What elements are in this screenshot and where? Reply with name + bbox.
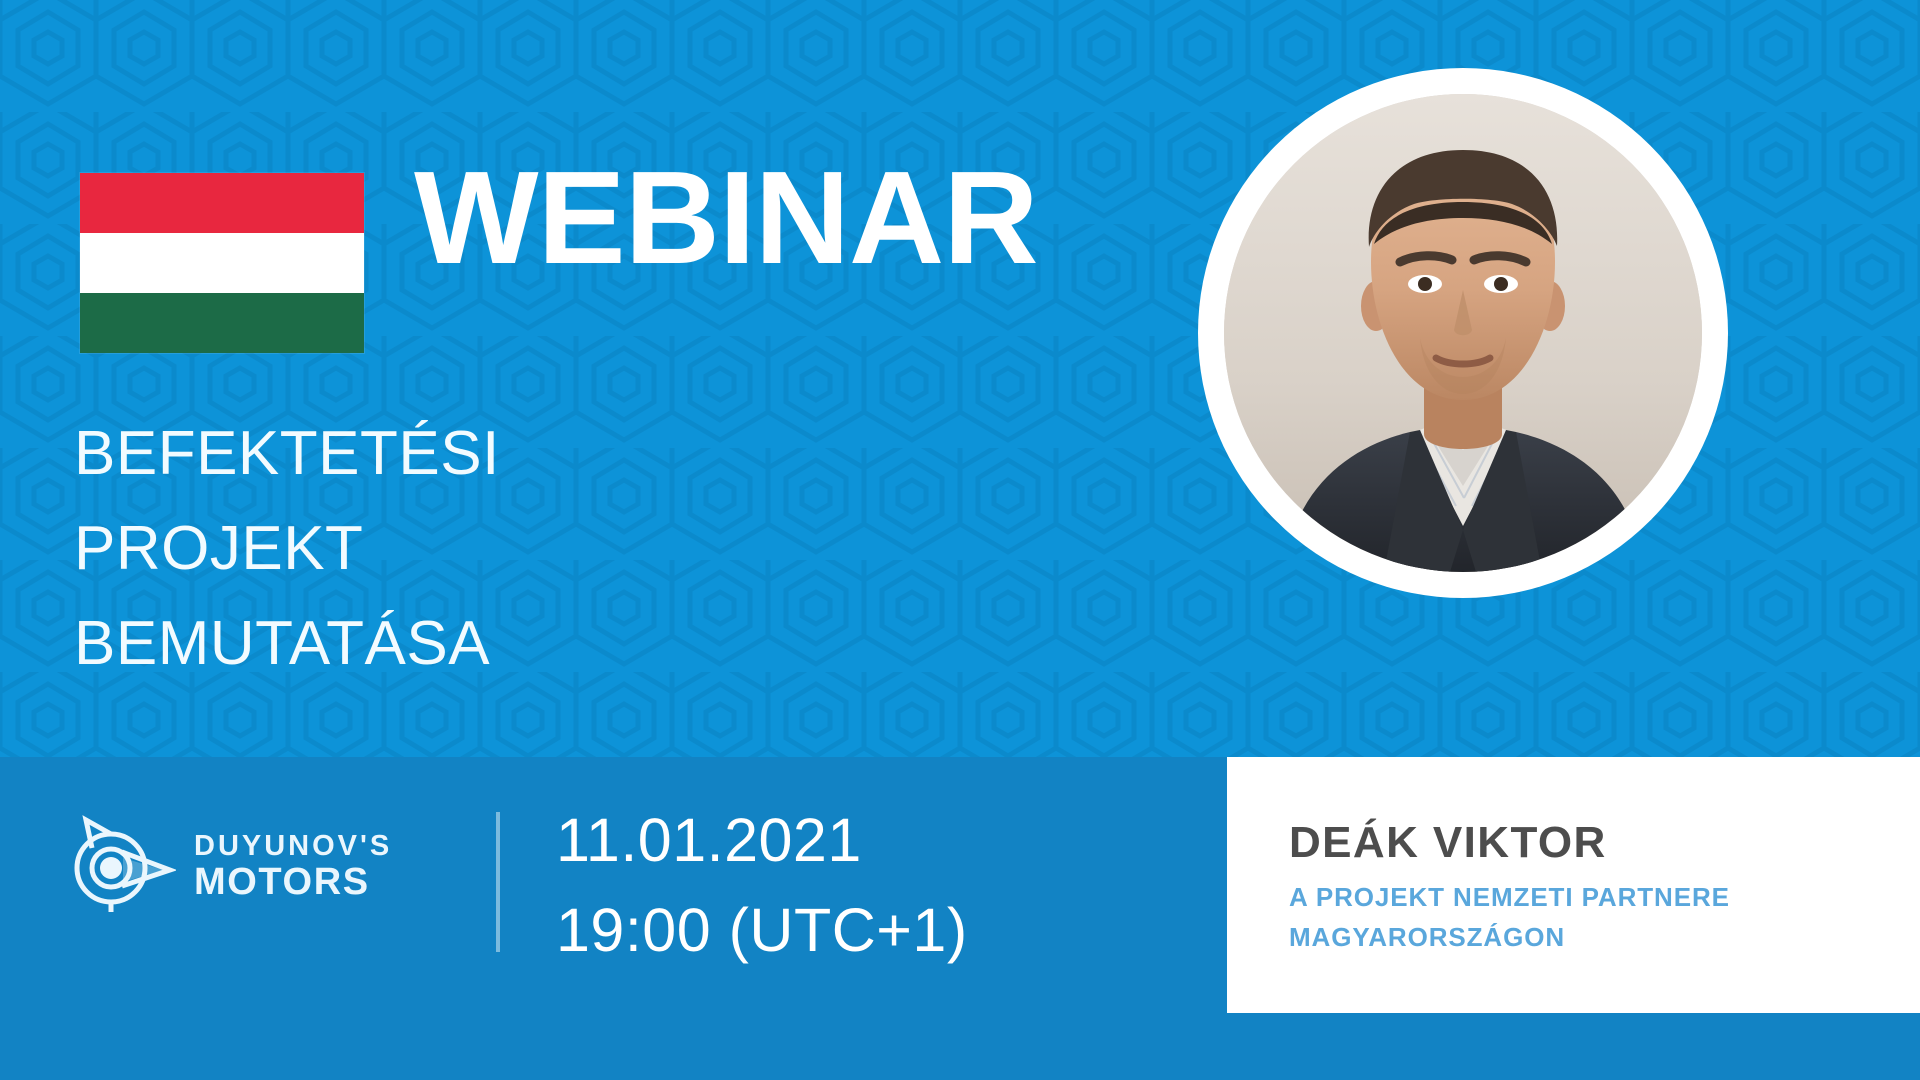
speaker-role-line-2: MAGYARORSZÁGON bbox=[1289, 917, 1730, 957]
event-time: 19:00 (UTC+1) bbox=[556, 885, 968, 975]
subtitle-line-2: PROJEKT bbox=[74, 501, 500, 596]
flag-stripe-white bbox=[80, 233, 364, 293]
speaker-portrait-illustration bbox=[1224, 94, 1702, 572]
flag-stripe-green bbox=[80, 293, 364, 353]
speaker-role: A PROJEKT NEMZETI PARTNERE MAGYARORSZÁGO… bbox=[1289, 877, 1730, 957]
schedule-block: 11.01.2021 19:00 (UTC+1) bbox=[556, 795, 968, 975]
footer-divider bbox=[496, 812, 500, 952]
brand-line-1: DUYUNOV'S bbox=[194, 828, 392, 864]
webinar-banner: WEBINAR BEFEKTETÉSI PROJEKT BEMUTATÁSA bbox=[0, 0, 1920, 1080]
subtitle-block: BEFEKTETÉSI PROJEKT BEMUTATÁSA bbox=[74, 406, 500, 691]
subtitle-line-3: BEMUTATÁSA bbox=[74, 596, 500, 691]
event-date: 11.01.2021 bbox=[556, 795, 968, 885]
speaker-name: DEÁK VIKTOR bbox=[1289, 819, 1607, 867]
duyunov-motor-icon bbox=[66, 812, 176, 916]
brand-logo[interactable]: DUYUNOV'S MOTORS bbox=[66, 812, 392, 916]
hungary-flag-icon bbox=[80, 173, 364, 353]
speaker-role-line-1: A PROJEKT NEMZETI PARTNERE bbox=[1289, 877, 1730, 917]
page-title: WEBINAR bbox=[414, 152, 1038, 284]
speaker-photo bbox=[1224, 94, 1702, 572]
brand-line-2: MOTORS bbox=[194, 864, 392, 900]
subtitle-line-1: BEFEKTETÉSI bbox=[74, 406, 500, 501]
flag-stripe-red bbox=[80, 173, 364, 233]
bottom-strip bbox=[0, 1013, 1920, 1080]
avatar bbox=[1198, 68, 1728, 598]
brand-wordmark: DUYUNOV'S MOTORS bbox=[194, 828, 392, 900]
